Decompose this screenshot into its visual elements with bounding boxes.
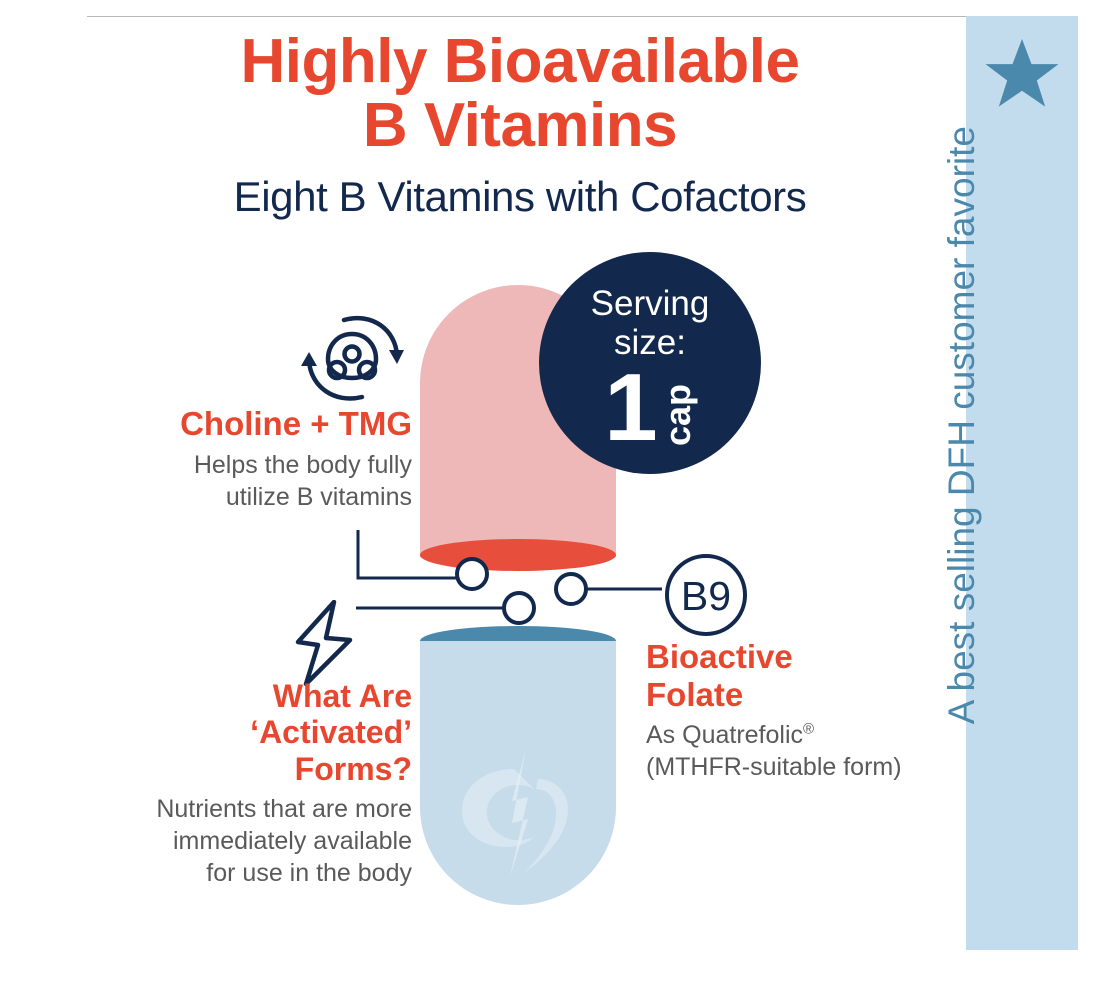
serving-size-label: Serving size: <box>539 284 761 362</box>
callout-choline-title: Choline + TMG <box>100 405 412 443</box>
atom-recycle-icon <box>300 312 404 404</box>
headline-line-1: Highly Bioavailable <box>240 27 799 96</box>
callout-choline-body-line-2: utilize B vitamins <box>226 483 412 511</box>
serving-label-line-1: Serving <box>591 284 710 323</box>
side-banner-label: A best selling DFH customer favorite <box>932 126 992 724</box>
dfh-logo-watermark-icon <box>454 743 582 883</box>
page-title: Highly Bioavailable B Vitamins <box>95 30 945 158</box>
callout-activated-title-line-1: What Are <box>273 678 412 714</box>
serving-size-value-row: 1 cap <box>539 364 761 452</box>
callout-activated-forms: What Are ‘Activated’ Forms? Nutrients th… <box>75 678 412 889</box>
callout-activated-body: Nutrients that are more immediately avai… <box>75 793 412 889</box>
infographic-canvas: Highly Bioavailable B Vitamins Eight B V… <box>0 0 1114 1000</box>
serving-size-unit: cap <box>660 384 696 446</box>
top-divider <box>87 16 1052 17</box>
headline-block: Highly Bioavailable B Vitamins Eight B V… <box>95 30 945 220</box>
callout-folate-title-line-1: Bioactive <box>646 638 793 675</box>
callout-activated-body-line-1: Nutrients that are more <box>156 795 412 823</box>
b9-badge-label: B9 <box>681 573 731 619</box>
capsule-top-rim <box>420 539 616 571</box>
page-subtitle: Eight B Vitamins with Cofactors <box>95 174 945 220</box>
callout-folate-body-line-2: (MTHFR-suitable form) <box>646 753 902 781</box>
callout-folate-body: As Quatrefolic® (MTHFR-suitable form) <box>646 719 976 783</box>
side-banner-text: A best selling DFH customer favorite <box>932 126 992 916</box>
callout-choline: Choline + TMG Helps the body fully utili… <box>100 405 412 513</box>
callout-choline-body-line-1: Helps the body fully <box>194 451 412 479</box>
registered-trademark-symbol: ® <box>803 721 814 738</box>
callout-folate-title-line-2: Folate <box>646 676 743 713</box>
callout-folate-body-line-1: As Quatrefolic <box>646 721 803 749</box>
star-icon <box>984 36 1060 112</box>
callout-activated-body-line-3: for use in the body <box>206 859 412 887</box>
callout-activated-title-line-3: Forms? <box>295 751 412 787</box>
serving-size-badge: Serving size: 1 cap <box>539 252 761 474</box>
callout-activated-body-line-2: immediately available <box>173 827 412 855</box>
headline-line-2: B Vitamins <box>363 91 677 160</box>
callout-bioactive-folate: Bioactive Folate As Quatrefolic® (MTHFR-… <box>646 638 976 783</box>
lightning-bolt-icon <box>292 600 356 686</box>
serving-size-number: 1 <box>604 364 655 452</box>
side-banner: A best selling DFH customer favorite <box>966 16 1078 950</box>
callout-folate-title: Bioactive Folate <box>646 638 976 713</box>
capsule-bottom-body <box>420 641 616 905</box>
callout-choline-body: Helps the body fully utilize B vitamins <box>100 449 412 513</box>
callout-activated-title: What Are ‘Activated’ Forms? <box>75 678 412 787</box>
b9-badge-icon: B9 <box>664 553 748 637</box>
callout-activated-title-line-2: ‘Activated’ <box>250 714 412 750</box>
